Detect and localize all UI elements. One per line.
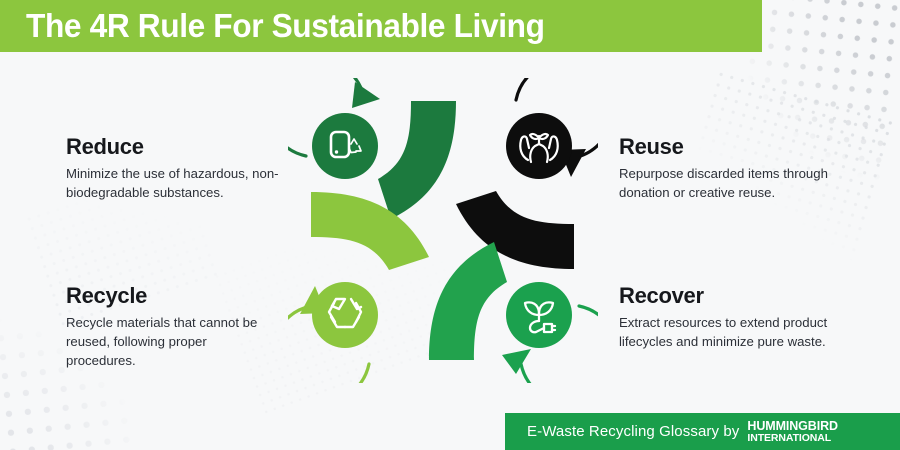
footer-caption: E-Waste Recycling Glossary by <box>527 423 739 440</box>
section-recover: Recover Extract resources to extend prod… <box>619 284 845 352</box>
section-title-recover: Recover <box>619 284 845 308</box>
hummingbird-logo[interactable]: HUMMINGBIRD INTERNATIONAL <box>747 420 838 444</box>
pinwheel-diagram <box>288 78 598 383</box>
logo-line-1: HUMMINGBIRD <box>747 420 838 433</box>
icon-circle-reduce <box>312 113 378 179</box>
section-body-reuse: Repurpose discarded items through donati… <box>619 165 839 202</box>
section-body-recover: Extract resources to extend product life… <box>619 314 845 351</box>
page-title: The 4R Rule For Sustainable Living <box>26 7 545 45</box>
node-reuse <box>506 78 598 179</box>
node-recycle <box>288 282 378 383</box>
node-recover <box>502 282 598 383</box>
section-title-recycle: Recycle <box>66 284 276 308</box>
logo-line-2: INTERNATIONAL <box>747 433 838 444</box>
section-recycle: Recycle Recycle materials that cannot be… <box>66 284 276 370</box>
section-title-reduce: Reduce <box>66 135 281 159</box>
section-reduce: Reduce Minimize the use of hazardous, no… <box>66 135 281 203</box>
section-title-reuse: Reuse <box>619 135 839 159</box>
section-reuse: Reuse Repurpose discarded items through … <box>619 135 839 203</box>
section-body-reduce: Minimize the use of hazardous, non-biode… <box>66 165 281 202</box>
arc-reduce-arrowhead <box>352 82 380 108</box>
icon-circle-recycle <box>312 282 378 348</box>
footer-bar: E-Waste Recycling Glossary by HUMMINGBIR… <box>505 413 900 450</box>
pinwheel-arm-bottom <box>429 242 507 360</box>
pinwheel-arm-top <box>378 101 456 219</box>
node-reduce <box>288 78 380 179</box>
section-body-recycle: Recycle materials that cannot be reused,… <box>66 314 276 370</box>
icon-circle-reuse <box>506 113 572 179</box>
infographic-canvas: The 4R Rule For Sustainable Living Reduc… <box>0 0 900 450</box>
header-bar: The 4R Rule For Sustainable Living <box>0 0 762 52</box>
arc-recover-arrowhead <box>502 349 531 374</box>
